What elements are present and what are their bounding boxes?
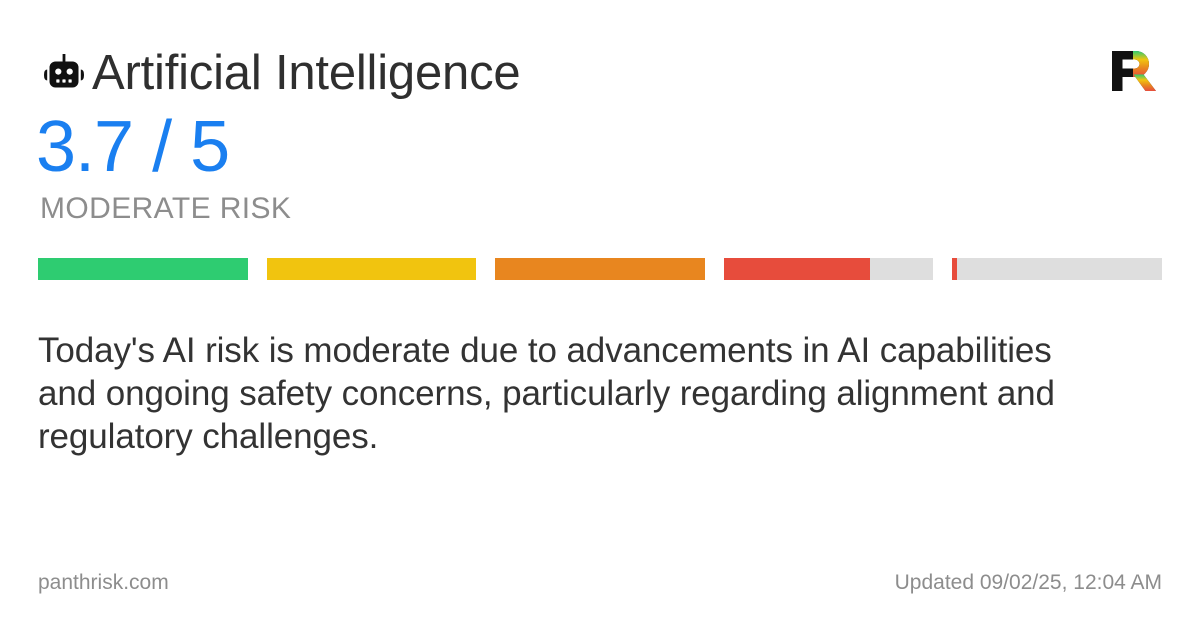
risk-meter-segment-2 bbox=[267, 258, 477, 280]
robot-icon bbox=[38, 48, 90, 100]
card-header: Artificial Intelligence bbox=[38, 42, 1162, 104]
risk-summary-text: Today's AI risk is moderate due to advan… bbox=[38, 329, 1068, 458]
risk-meter-segment-1-fill bbox=[38, 258, 248, 280]
risk-score: 3.7 / 5 bbox=[36, 104, 229, 190]
updated-timestamp: Updated 09/02/25, 12:04 AM bbox=[895, 570, 1162, 596]
risk-meter-segment-3-fill bbox=[495, 258, 705, 280]
risk-level-label: MODERATE RISK bbox=[40, 190, 291, 228]
risk-meter-segment-5-fill bbox=[952, 258, 956, 280]
card-footer: panthrisk.com Updated 09/02/25, 12:04 AM bbox=[38, 570, 1162, 596]
risk-meter-segment-4 bbox=[724, 258, 934, 280]
panthrisk-logo-icon[interactable] bbox=[1106, 43, 1162, 99]
risk-meter-segment-1 bbox=[38, 258, 248, 280]
title-group: Artificial Intelligence bbox=[38, 44, 520, 102]
risk-summary-card: Artificial Intelligence bbox=[0, 0, 1200, 630]
risk-meter-segment-3 bbox=[495, 258, 705, 280]
risk-meter bbox=[38, 258, 1162, 280]
risk-meter-segment-5 bbox=[952, 258, 1162, 280]
risk-meter-segment-4-fill bbox=[724, 258, 871, 280]
risk-meter-segment-2-fill bbox=[267, 258, 477, 280]
site-name: panthrisk.com bbox=[38, 570, 169, 596]
page-title: Artificial Intelligence bbox=[92, 44, 520, 102]
